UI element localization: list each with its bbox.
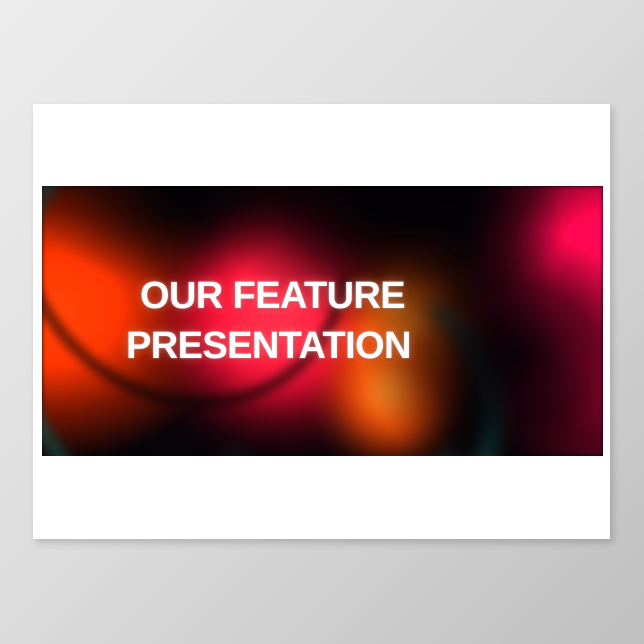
title-line-two: PRESENTATION — [126, 321, 603, 371]
scene-backdrop: OUR FEATURE PRESENTATION — [0, 0, 644, 644]
title-line-one: OUR FEATURE — [140, 271, 603, 321]
artwork-title-block: OUR FEATURE PRESENTATION — [42, 186, 603, 456]
poster-sheet[interactable]: OUR FEATURE PRESENTATION — [33, 104, 610, 539]
poster-artwork: OUR FEATURE PRESENTATION — [42, 186, 603, 456]
